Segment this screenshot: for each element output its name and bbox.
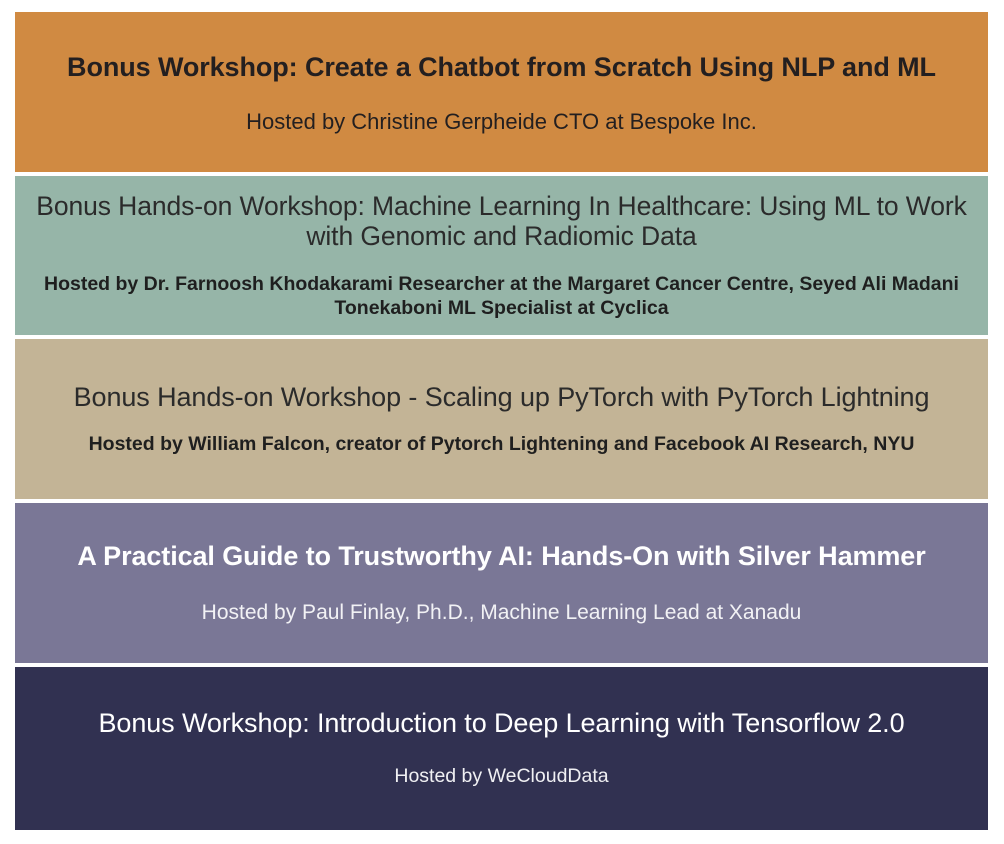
workshop-card[interactable]: Bonus Workshop: Create a Chatbot from Sc… <box>15 12 988 172</box>
workshop-title: A Practical Guide to Trustworthy AI: Han… <box>77 541 925 572</box>
workshop-host: Hosted by WeCloudData <box>394 765 608 788</box>
workshop-host: Hosted by Dr. Farnoosh Khodakarami Resea… <box>37 273 967 320</box>
workshop-host: Hosted by Christine Gerpheide CTO at Bes… <box>246 109 757 135</box>
workshop-card[interactable]: A Practical Guide to Trustworthy AI: Han… <box>15 503 988 663</box>
workshop-host: Hosted by William Falcon, creator of Pyt… <box>89 433 915 456</box>
workshop-card[interactable]: Bonus Workshop: Introduction to Deep Lea… <box>15 667 988 830</box>
workshop-title: Bonus Hands-on Workshop - Scaling up PyT… <box>74 382 930 413</box>
workshop-host: Hosted by Paul Finlay, Ph.D., Machine Le… <box>202 600 802 625</box>
workshop-title: Bonus Workshop: Introduction to Deep Lea… <box>99 708 905 739</box>
workshop-card[interactable]: Bonus Hands-on Workshop: Machine Learnin… <box>15 176 988 335</box>
workshop-title: Bonus Hands-on Workshop: Machine Learnin… <box>33 191 970 251</box>
workshop-title: Bonus Workshop: Create a Chatbot from Sc… <box>67 52 936 83</box>
workshop-card-list: Bonus Workshop: Create a Chatbot from Sc… <box>0 0 1004 844</box>
workshop-card[interactable]: Bonus Hands-on Workshop - Scaling up PyT… <box>15 339 988 499</box>
